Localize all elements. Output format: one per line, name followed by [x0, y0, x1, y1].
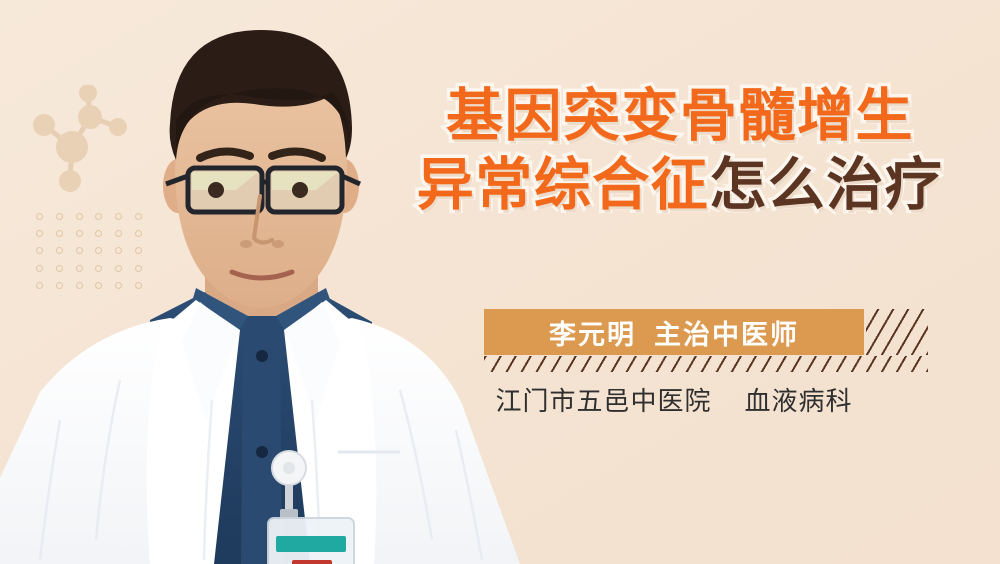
hospital-name: 江门市五邑中医院 [496, 386, 712, 416]
doctor-title: 主治中医师 [654, 313, 799, 352]
title-line-2: 异常综合征怎么治疗 [370, 157, 990, 214]
hatch-decoration-bottom [484, 356, 928, 372]
hospital-line: 江门市五邑中医院 血液病科 [484, 381, 864, 418]
doctor-credit-band: 李元明 主治中医师 [484, 309, 864, 355]
page-title: 基因突变骨髓增生 异常综合征怎么治疗 [370, 88, 990, 214]
department-spacer [720, 386, 736, 416]
doctor-name: 李元明 [549, 313, 636, 352]
title-line-2-orange: 异常综合征 [417, 153, 710, 217]
title-line-2-brown: 怎么治疗 [709, 153, 943, 217]
doctor-portrait-image [0, 0, 520, 564]
title-line-1: 基因突变骨髓增生 [370, 88, 990, 145]
department-name: 血液病科 [744, 386, 852, 416]
poster-canvas: 基因突变骨髓增生 异常综合征怎么治疗 李元明 主治中医师 江门市五邑中医院 血液… [0, 0, 1000, 564]
hatch-decoration-right [866, 309, 928, 355]
